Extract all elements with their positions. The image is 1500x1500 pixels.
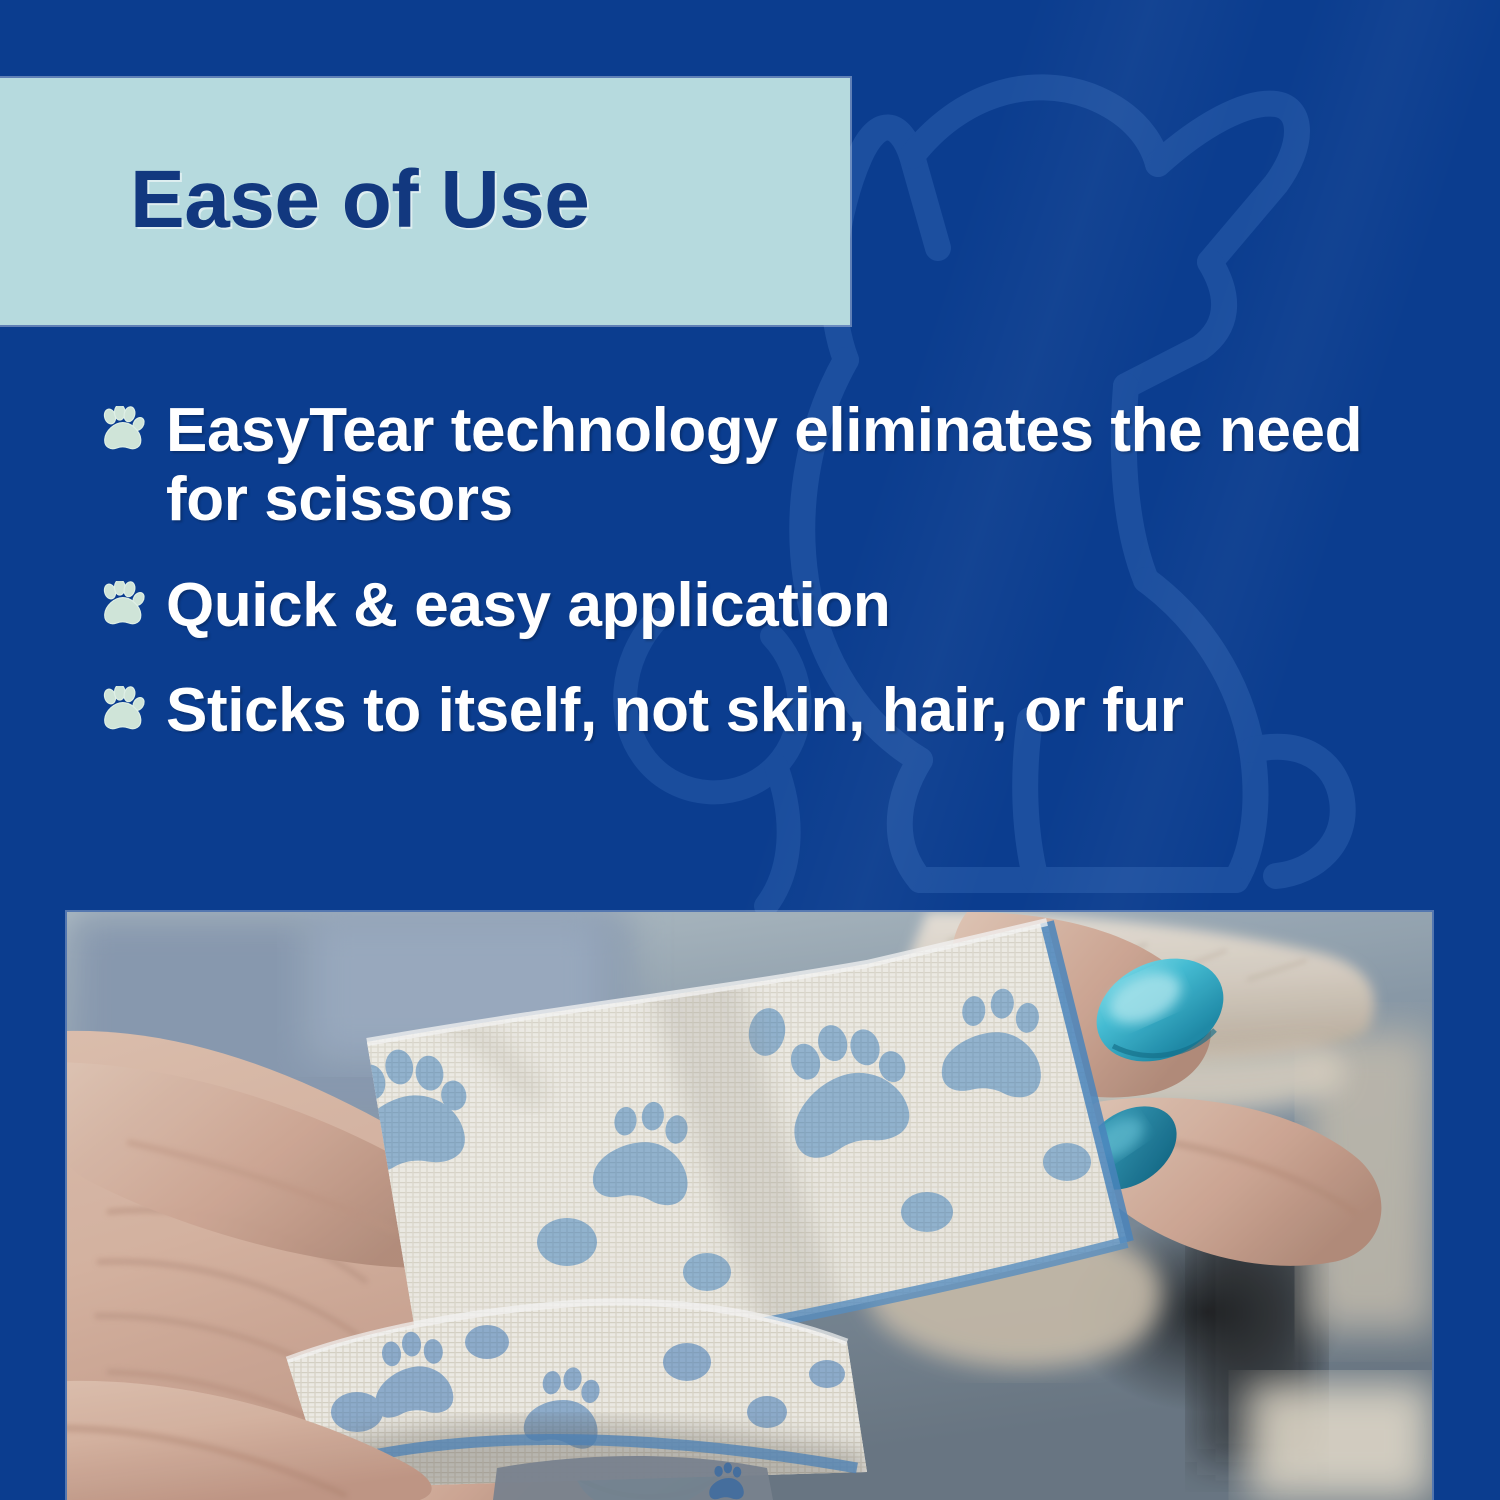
list-item: Quick & easy application [98, 571, 1438, 640]
paw-print-icon [98, 686, 146, 734]
list-item-label: Sticks to itself, not skin, hair, or fur [166, 676, 1184, 745]
product-photo [67, 912, 1432, 1500]
list-item: EasyTear technology eliminates the need … [98, 396, 1438, 535]
list-item-label: EasyTear technology eliminates the need … [166, 396, 1438, 535]
promo-graphic: Ease of Use EasyTear technology eliminat… [0, 0, 1500, 1500]
feature-bullet-list: EasyTear technology eliminates the need … [98, 396, 1438, 782]
header-panel: Ease of Use [0, 78, 850, 325]
page-title: Ease of Use [130, 153, 589, 247]
list-item-label: Quick & easy application [166, 571, 890, 640]
paw-print-icon [98, 581, 146, 629]
paw-print-icon [98, 406, 146, 454]
list-item: Sticks to itself, not skin, hair, or fur [98, 676, 1438, 745]
